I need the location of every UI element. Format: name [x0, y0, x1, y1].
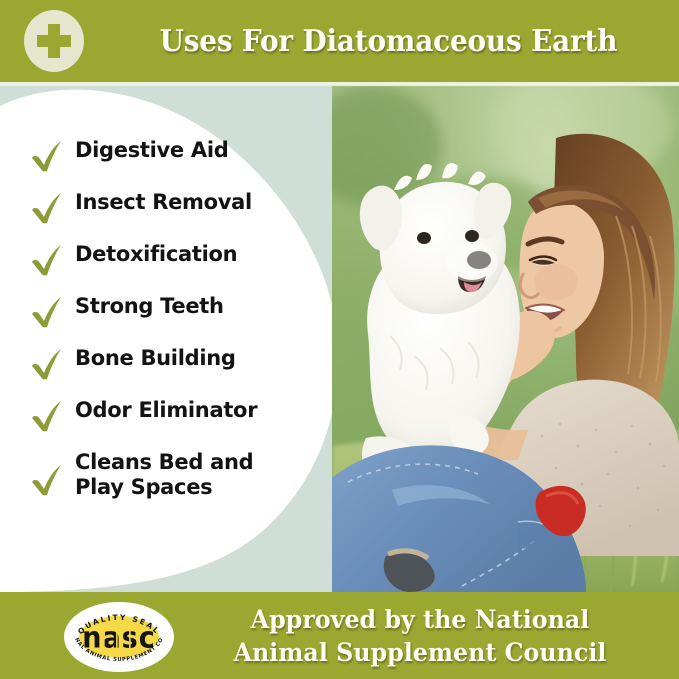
footer-approval-text: Approved by the National Animal Suppleme… [197, 592, 644, 679]
list-item-label: Strong Teeth [75, 294, 224, 319]
woman-with-dog-photo [332, 86, 679, 592]
list-item-label: Cleans Bed and Play Spaces [75, 450, 253, 500]
list-item-label: Bone Building [75, 346, 236, 371]
list-item: Digestive Aid [30, 138, 330, 174]
diatomaceous-earth-uses-infographic: Uses For Diatomaceous Earth [0, 0, 679, 679]
footer-line-2: Animal Supplement Council [234, 636, 607, 669]
footer-line-1: Approved by the National [251, 603, 590, 636]
list-item: Strong Teeth [30, 294, 330, 330]
list-item: Insect Removal [30, 190, 330, 226]
list-item: Odor Eliminator [30, 398, 330, 434]
checkmark-icon [30, 192, 64, 226]
uses-checklist: Digestive Aid Insect Removal Detoxificat… [0, 86, 340, 592]
list-item-label: Odor Eliminator [75, 398, 257, 423]
list-item: Cleans Bed and Play Spaces [30, 450, 330, 500]
checkmark-icon [30, 348, 64, 382]
checkmark-icon [30, 464, 64, 498]
page-title: Uses For Diatomaceous Earth [135, 0, 642, 82]
checkmark-icon [30, 400, 64, 434]
header-bar: Uses For Diatomaceous Earth [0, 0, 679, 82]
list-item: Bone Building [30, 346, 330, 382]
checkmark-icon [30, 296, 64, 330]
list-item-label: Digestive Aid [75, 138, 228, 163]
list-item-label: Detoxification [75, 242, 237, 267]
nasc-quality-seal-logo: nasc QUALITY SEAL NATIONAL ANIMAL SUPPLE… [63, 601, 175, 673]
medical-cross-icon [24, 10, 84, 72]
list-item-label: Insect Removal [75, 190, 252, 215]
checkmark-icon [30, 244, 64, 278]
checkmark-icon [30, 140, 64, 174]
list-item: Detoxification [30, 242, 330, 278]
